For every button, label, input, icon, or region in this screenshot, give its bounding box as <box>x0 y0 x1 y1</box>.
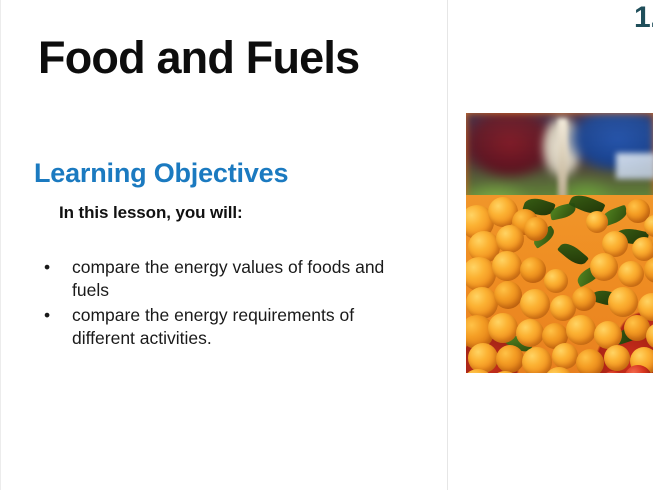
slide-canvas: Food and Fuels Learning Objectives In th… <box>0 0 653 490</box>
section-heading-learning-objectives: Learning Objectives <box>34 158 288 189</box>
list-item-label: compare the energy values of foods and f… <box>72 257 384 300</box>
list-item-label: compare the energy requirements of diffe… <box>72 305 354 348</box>
page-title: Food and Fuels <box>38 32 359 84</box>
photo-citrus-pile <box>466 195 653 373</box>
slide-number: 1. <box>634 1 653 35</box>
left-content-pane: Food and Fuels Learning Objectives In th… <box>1 0 447 490</box>
right-media-pane: 1. <box>448 0 653 490</box>
list-item: • compare the energy values of foods and… <box>39 256 399 303</box>
bullet-icon: • <box>44 256 50 279</box>
list-item: • compare the energy requirements of dif… <box>39 304 399 351</box>
bullet-icon: • <box>44 304 50 327</box>
objectives-list: • compare the energy values of foods and… <box>39 256 399 351</box>
lead-in-text: In this lesson, you will: <box>59 203 243 223</box>
market-produce-photo <box>466 113 653 373</box>
